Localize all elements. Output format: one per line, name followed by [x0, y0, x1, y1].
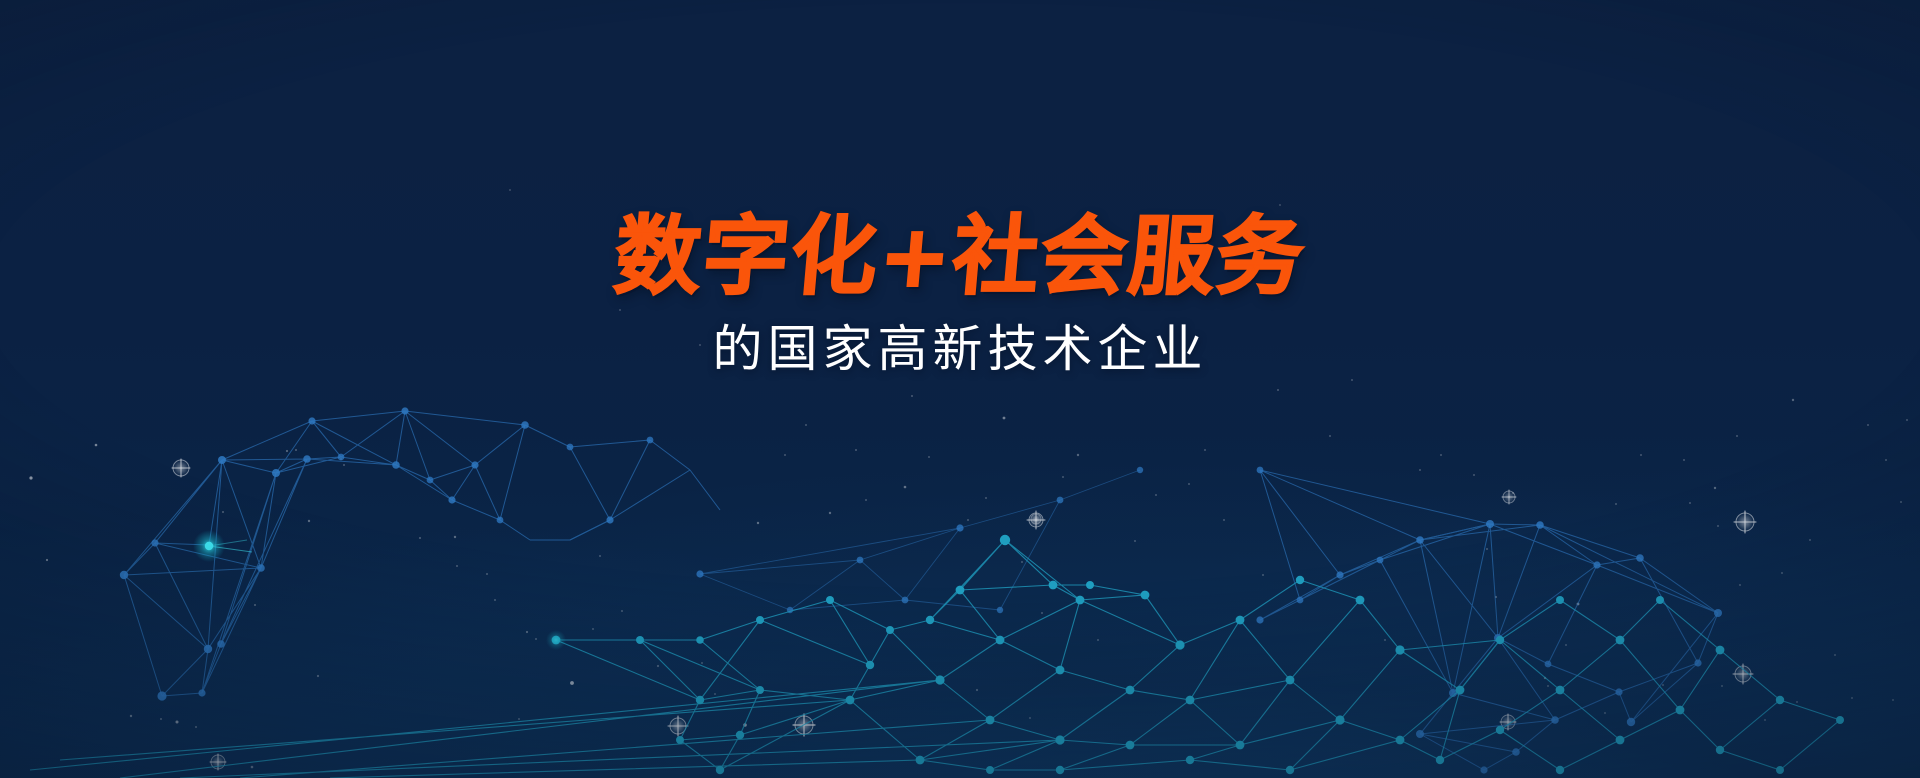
- hero-text-block: 数字化+社会服务 的国家高新技术企业: [0, 214, 1920, 374]
- page-subtitle: 的国家高新技术企业: [0, 324, 1920, 374]
- hero-banner: 数字化+社会服务 的国家高新技术企业: [0, 0, 1920, 778]
- accent-glow-layer: [0, 0, 1920, 778]
- cyan-accent-node: [193, 530, 252, 562]
- teal-accent-node-lower: [546, 630, 566, 650]
- page-title: 数字化+社会服务: [611, 214, 1309, 300]
